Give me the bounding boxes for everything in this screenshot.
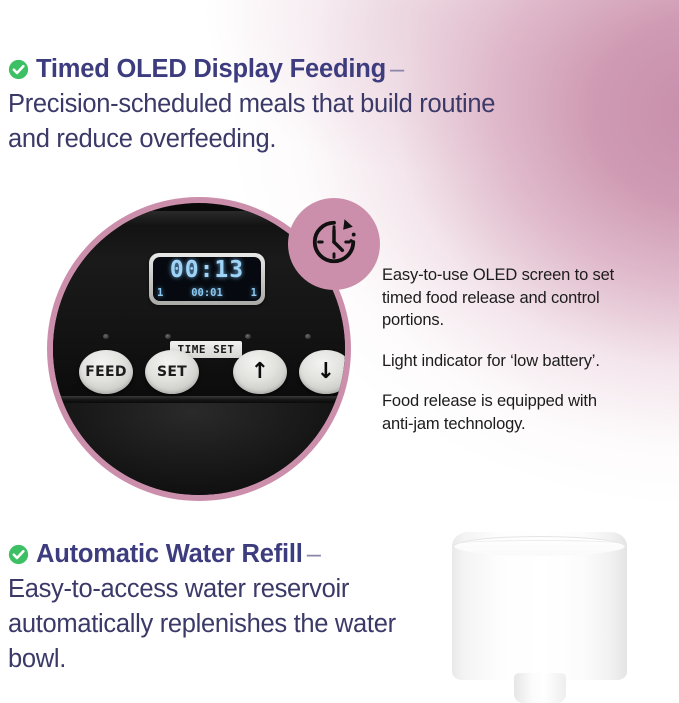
oled-sub-left: 1 [157,287,163,299]
check-circle-icon [8,540,29,561]
water-reservoir-photo [452,520,657,703]
set-button-label: SET [157,364,187,380]
feature-subline-water-refill: Easy-to-access water reservoir automatic… [8,572,456,677]
device-note-1: Easy-to-use OLED screen to set timed foo… [382,264,632,332]
feature-block-water-refill: Automatic Water Refill– Easy-to-access w… [8,537,468,677]
reservoir-body [452,532,627,680]
led-indicator-dot-4 [305,334,311,339]
feed-button-label: FEED [85,364,127,380]
oled-sub-right: 1 [251,287,257,299]
up-button[interactable]: ↑ [233,350,287,394]
feature-headline-dash: – [386,55,404,83]
oled-sub-row: 1 00:01 1 [157,287,257,299]
led-indicator-dot-2 [165,334,171,339]
feature-headline-text: Timed OLED Display Feeding [36,55,386,83]
led-indicator-dot-3 [245,334,251,339]
page-root: Timed OLED Display Feeding– Precision-sc… [0,0,679,703]
feature-headline-water-refill: Automatic Water Refill– [8,537,468,572]
feature-headline-timed-oled: Timed OLED Display Feeding– [8,52,548,87]
feature-headline-dash: – [303,540,321,568]
feeder-lower-body [53,403,345,495]
arrow-up-icon: ↑ [251,361,270,383]
device-notes-list: Easy-to-use OLED screen to set timed foo… [382,264,632,435]
feed-button[interactable]: FEED [79,350,133,394]
oled-sub-center: 00:01 [191,287,223,299]
feature-headline-text: Automatic Water Refill [36,540,303,568]
device-note-3: Food release is equipped with anti-jam t… [382,390,632,435]
down-button[interactable]: ↓ [299,350,345,394]
oled-display-screen: 00:13 1 00:01 1 [153,257,261,301]
set-button[interactable]: SET [145,350,199,394]
clock-badge [288,198,380,290]
feeder-seam [53,396,345,403]
feature-text-timed-oled: Timed OLED Display Feeding– Precision-sc… [8,52,548,157]
feature-subline-timed-oled: Precision-scheduled meals that build rou… [8,87,543,157]
led-indicator-dot-1 [103,334,109,339]
feature-text-water-refill: Automatic Water Refill– Easy-to-access w… [8,537,468,677]
oled-display-bezel: 00:13 1 00:01 1 [149,253,265,305]
arrow-down-icon: ↓ [317,361,336,383]
device-note-2: Light indicator for ‘low battery’. [382,350,632,373]
reservoir-spout [514,673,566,703]
check-circle-icon [8,55,29,76]
reservoir-rim [456,540,623,548]
oled-main-time: 00:13 [153,258,261,283]
feature-block-timed-oled: Timed OLED Display Feeding– Precision-sc… [8,52,548,157]
clock-arrow-icon [306,214,362,275]
